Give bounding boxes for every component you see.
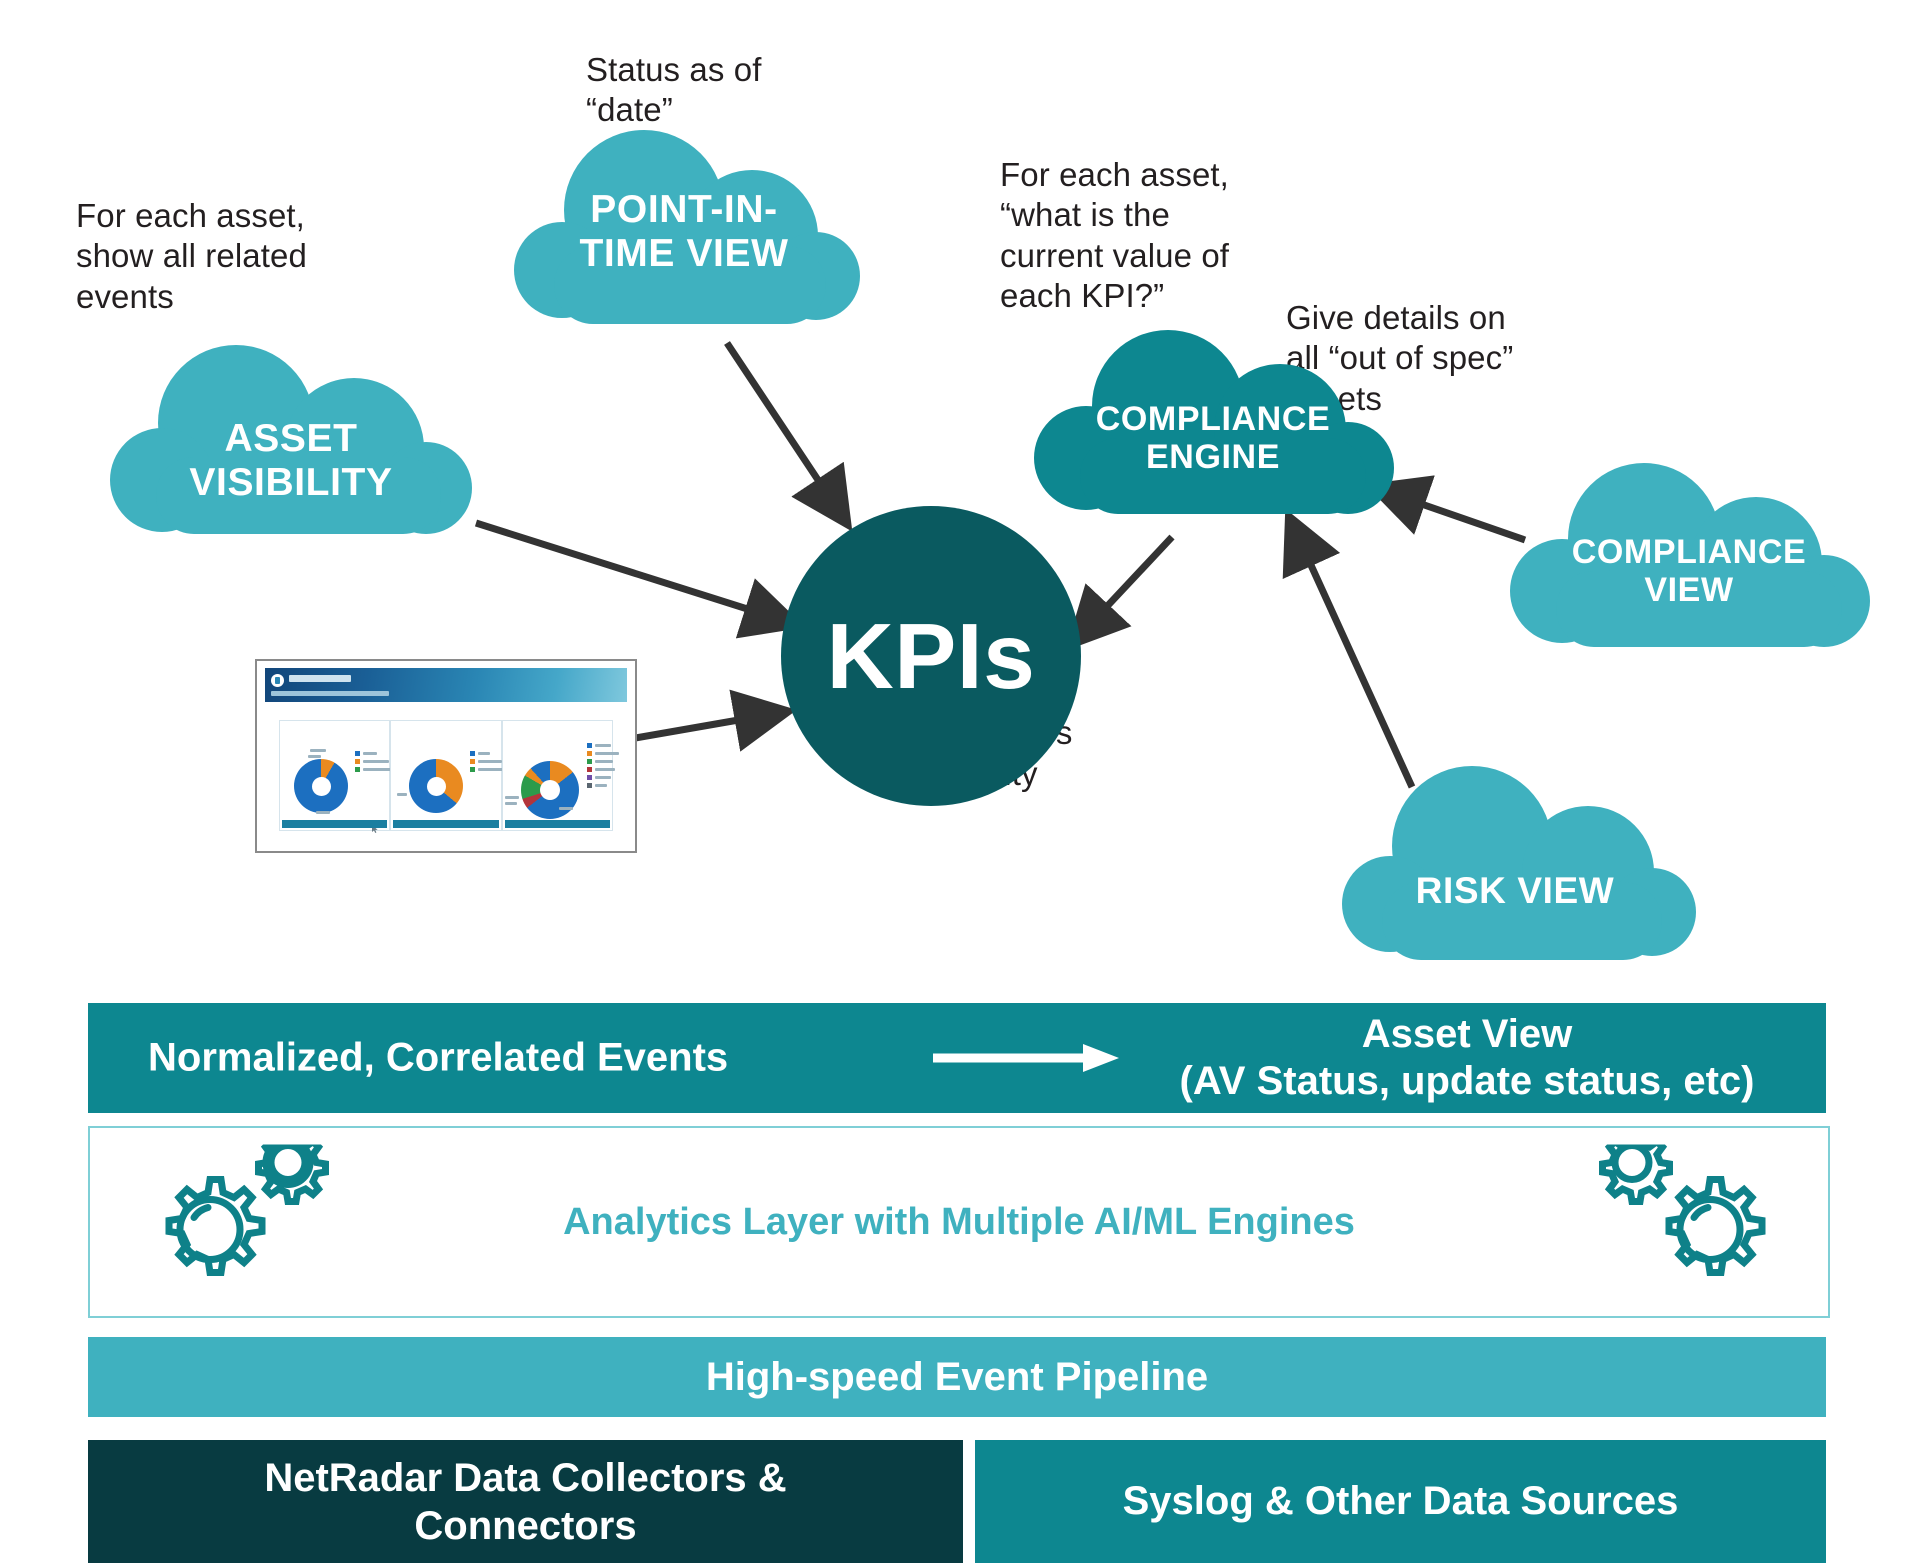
gears-icon — [1580, 1145, 1780, 1295]
dashboard-body — [265, 702, 627, 843]
cloud-shape — [96, 345, 486, 535]
source-netradar[interactable]: NetRadar Data Collectors & Connectors — [88, 1440, 963, 1563]
donut-hole-3 — [540, 780, 560, 800]
arrow-compliance-engine-to-kpis — [1098, 537, 1172, 616]
analytics-band[interactable]: Analytics Layer with Multiple AI/ML Engi… — [88, 1126, 1830, 1318]
cloud-point-in-time-view[interactable]: POINT-IN- TIME VIEW — [504, 128, 864, 328]
dashboard-brand-text — [289, 675, 351, 682]
dashboard-panel-1-footer — [282, 820, 387, 828]
annotation-compliance-engine: For each asset, “what is the current val… — [1000, 155, 1300, 316]
dashboard-logo-icon — [271, 674, 284, 687]
dashboard-panel-3-footer — [505, 820, 610, 828]
donut-hole-1 — [312, 777, 331, 796]
events-band-right-label: Asset View (AV Status, update status, et… — [1128, 1011, 1806, 1105]
cloud-asset-visibility[interactable]: ASSET VISIBILITY — [96, 345, 486, 535]
kpis-label: KPIs — [827, 603, 1036, 710]
gears-icon-left — [138, 1145, 338, 1300]
arrow-dashboard-to-kpis — [624, 718, 750, 740]
cloud-risk-view[interactable]: RISK VIEW — [1330, 762, 1700, 962]
gears-icon — [138, 1145, 338, 1295]
donut-legend-3 — [587, 743, 619, 791]
diagram-canvas: For each asset, show all related events … — [0, 0, 1920, 1563]
dashboard-subtitle-text — [271, 691, 389, 696]
cloud-shape — [1494, 463, 1884, 653]
dashboard-panels — [279, 720, 613, 831]
arrow-asset-visibility-to-kpis — [476, 523, 760, 613]
events-band-left-label: Normalized, Correlated Events — [148, 1036, 728, 1081]
cloud-compliance-view[interactable]: COMPLIANCE VIEW — [1494, 463, 1884, 653]
dashboard-header-bar — [265, 668, 627, 702]
annotation-point-in-time: Status as of “date” — [586, 50, 866, 131]
cloud-compliance-engine[interactable]: COMPLIANCE ENGINE — [1018, 330, 1408, 520]
gears-icon-right — [1580, 1145, 1780, 1300]
source-netradar-label: NetRadar Data Collectors & Connectors — [264, 1454, 786, 1550]
dashboard-panel-2-footer — [393, 820, 498, 828]
cloud-shape — [1018, 330, 1408, 520]
cloud-shape — [1330, 762, 1700, 962]
events-band-arrow-icon — [933, 1041, 1123, 1075]
source-syslog[interactable]: Syslog & Other Data Sources — [975, 1440, 1826, 1563]
cloud-shape — [504, 128, 864, 328]
pipeline-band[interactable]: High-speed Event Pipeline — [88, 1337, 1826, 1417]
arrow-risk-view-to-compliance-engine — [1305, 552, 1412, 787]
pipeline-band-label: High-speed Event Pipeline — [706, 1355, 1208, 1400]
events-band[interactable]: Normalized, Correlated Events Asset View… — [88, 1003, 1826, 1113]
arrow-point-in-time-to-kpis — [727, 343, 826, 492]
dashboard-panel-1[interactable] — [279, 720, 390, 831]
annotation-asset-visibility: For each asset, show all related events — [76, 196, 376, 317]
source-syslog-label: Syslog & Other Data Sources — [1123, 1479, 1679, 1524]
dashboard-panel-3[interactable] — [502, 720, 613, 831]
donut-legend-1 — [355, 751, 395, 775]
dashboard-screenshot[interactable] — [255, 659, 637, 853]
analytics-band-label: Analytics Layer with Multiple AI/ML Engi… — [563, 1201, 1355, 1244]
kpis-node[interactable]: KPIs — [781, 506, 1081, 806]
dashboard-panel-2[interactable] — [390, 720, 501, 831]
